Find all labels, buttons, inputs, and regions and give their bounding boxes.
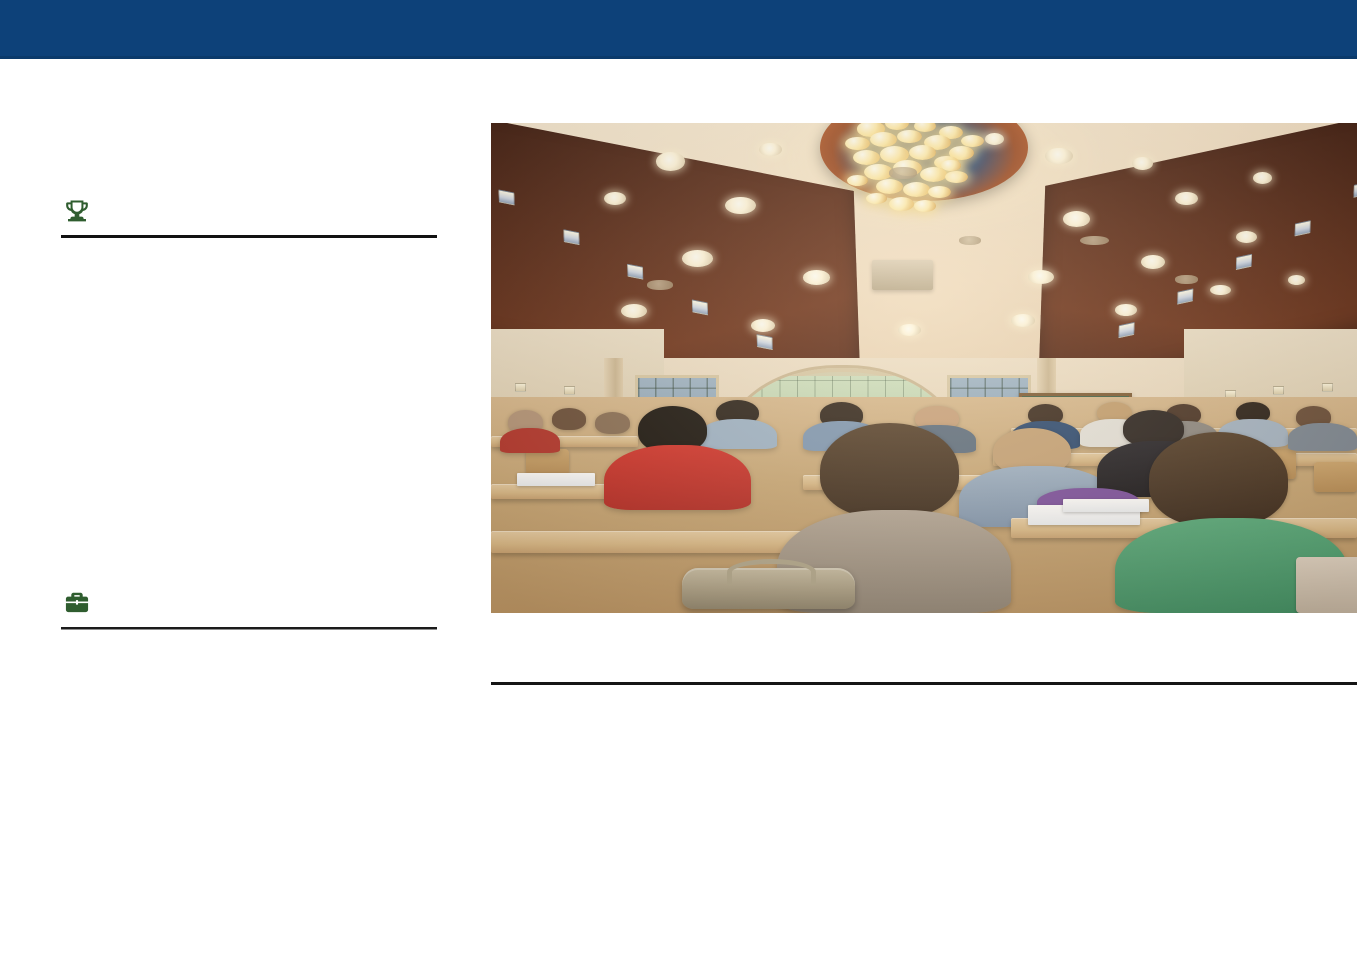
photo-seating-area: [491, 397, 1357, 613]
panel-awards-divider: [61, 235, 437, 238]
header-inner: [0, 0, 1357, 59]
photo-person-green-head: [1149, 432, 1288, 527]
panel-careers: [61, 589, 437, 629]
right-column: [491, 59, 1357, 953]
site-header: [0, 0, 1357, 59]
photo-person-grey-head: [820, 423, 959, 518]
right-column-divider: [491, 682, 1357, 685]
panel-careers-divider: [61, 627, 437, 629]
lecture-hall-photo: [491, 123, 1357, 613]
panel-awards: [61, 197, 437, 238]
photo-canvas: [491, 123, 1357, 613]
photo-ceiling-projector: [872, 260, 933, 289]
photo-person-red-hoodie: [604, 445, 751, 510]
page-body: [0, 59, 1357, 953]
photo-duffel-bag: [682, 568, 855, 609]
left-column: [61, 59, 437, 953]
trophy-icon: [62, 197, 92, 225]
briefcase-icon: [62, 589, 92, 617]
